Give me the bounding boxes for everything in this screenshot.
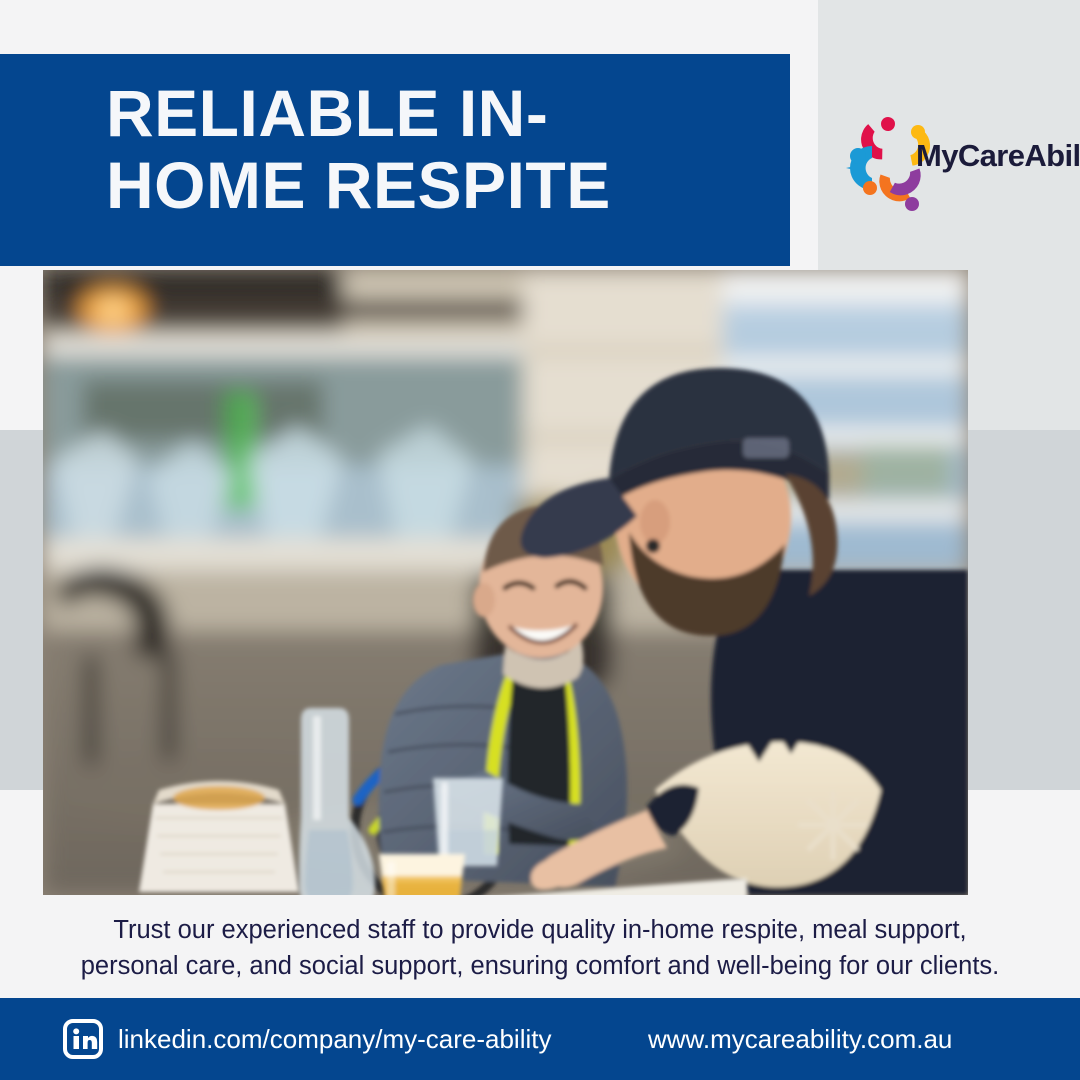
bread-basket-icon (139, 781, 299, 892)
linkedin-url-text[interactable]: linkedin.com/company/my-care-ability (118, 1020, 551, 1058)
title-band: RELIABLE IN- HOME RESPITE (0, 54, 790, 266)
social-media-poster: RELIABLE IN- HOME RESPITE (0, 0, 1080, 1080)
hero-photo (43, 270, 968, 895)
caption-text: Trust our experienced staff to provide q… (60, 912, 1020, 990)
logo-wordmark: MyCareAbility (916, 138, 1080, 174)
figure-purple-icon (886, 168, 927, 211)
hero-photo-illustration (43, 270, 968, 895)
title-line-2: HOME RESPITE (106, 148, 611, 222)
title-line-1: RELIABLE IN- (106, 76, 548, 150)
linkedin-icon[interactable] (62, 1018, 104, 1060)
beer-glass-icon (379, 854, 465, 895)
footer-bar: linkedin.com/company/my-care-ability www… (0, 998, 1080, 1080)
website-url-text[interactable]: www.mycareability.com.au (648, 1020, 952, 1058)
page-title: RELIABLE IN- HOME RESPITE (106, 78, 766, 222)
background-panel-left-middle (0, 430, 44, 790)
snowflake-motif (798, 790, 868, 860)
caption-line-2: personal care, and social support, ensur… (60, 948, 1020, 984)
caption-line-1: Trust our experienced staff to provide q… (60, 912, 1020, 948)
brand-logo: MyCareAbility (838, 104, 1070, 222)
water-glass-icon (433, 778, 503, 866)
